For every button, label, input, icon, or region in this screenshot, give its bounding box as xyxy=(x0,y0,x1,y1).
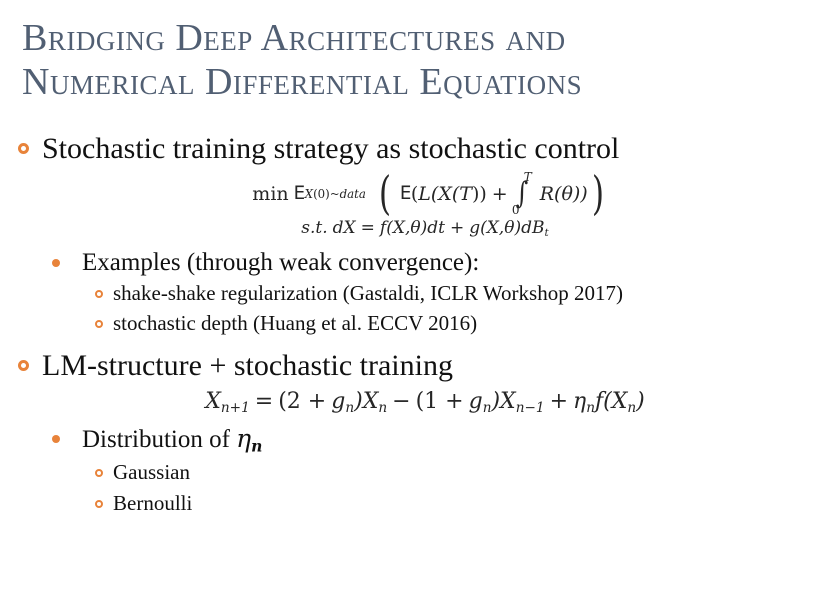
bullet-marker-hollow-circle-small-icon xyxy=(95,459,113,486)
eq1-subscript-sim: ~ xyxy=(330,187,340,201)
eta-subscript: n xyxy=(251,437,262,456)
bullet-label: shake-shake regularization (Gastaldi, IC… xyxy=(113,280,623,307)
eq1-plus: + xyxy=(492,183,508,205)
slide-canvas: Bridging Deep Architectures and Numerica… xyxy=(0,0,830,599)
eq2-plus: + xyxy=(450,218,464,238)
bullet-label: stochastic depth (Huang et al. ECCV 2016… xyxy=(113,310,477,337)
bullet-bernoulli: Bernoulli xyxy=(0,490,830,517)
bullet-marker-hollow-circle-small-icon xyxy=(95,280,113,307)
equation-lm-structure-recurrence: Xn+1=(2 +gn)Xn−(1 +gn)Xn−1+ηnf(Xn) xyxy=(20,389,830,414)
eq3-plus: + xyxy=(550,389,568,414)
eq2-diffusion-term: g(X,θ)dB xyxy=(469,218,544,238)
eq1-subscript-X: X xyxy=(305,187,313,201)
integral-icon: ∫ xyxy=(515,179,528,209)
bullet-label: Examples (through weak convergence): xyxy=(82,248,479,278)
bullet-examples: Examples (through weak convergence): xyxy=(0,248,830,278)
bullet-label: Gaussian xyxy=(113,459,190,486)
eq2-brownian-subscript: t xyxy=(544,227,548,239)
bullet-marker-filled-dot-icon xyxy=(52,424,82,454)
eq3-X-next: X xyxy=(205,389,221,414)
bullet-marker-hollow-circle-small-icon xyxy=(95,490,113,517)
eq1-regularizer-R: R xyxy=(540,183,554,205)
bullet-lm-structure: LM-structure + stochastic training xyxy=(0,349,830,382)
eq1-subscript-paren-zero: (0) xyxy=(313,187,330,201)
eq3-f-open: f(X xyxy=(595,389,627,414)
eq2-drift-term: f(X,θ)dt xyxy=(380,218,445,238)
eq1-left-paren: ( xyxy=(379,173,391,214)
bullet-marker-hollow-circle-icon xyxy=(18,132,42,164)
eq1-subscript-data: data xyxy=(340,187,366,201)
bullet-label: Distribution of ηn xyxy=(82,424,262,455)
bullet-marker-hollow-circle-icon xyxy=(18,349,42,381)
eq1-T-arg: (T xyxy=(452,183,472,205)
eq3-X-subscript-n: n xyxy=(378,400,387,416)
slide-title: Bridging Deep Architectures and Numerica… xyxy=(22,16,812,104)
bullet-stochastic-depth: stochastic depth (Huang et al. ECCV 2016… xyxy=(0,310,830,337)
eq2-subject-to: s.t. xyxy=(301,218,327,238)
eq3-equals: = xyxy=(255,389,273,414)
eq3-X-subscript-n-minus-1: n−1 xyxy=(516,400,545,416)
eq1-min: min xyxy=(252,183,288,205)
eq1-expectation-symbol: E xyxy=(294,183,305,204)
eta-symbol: η xyxy=(236,424,251,453)
bullet-label: Bernoulli xyxy=(113,490,192,517)
eq1-right-paren: ) xyxy=(592,173,604,214)
bullet-label: Stochastic training strategy as stochast… xyxy=(42,132,619,165)
eq3-f-close: ) xyxy=(636,389,645,414)
eq3-eta: η xyxy=(573,389,586,414)
bullet-stochastic-training-strategy: Stochastic training strategy as stochast… xyxy=(0,132,830,165)
bullet-gaussian: Gaussian xyxy=(0,459,830,486)
bullet-label-text: Distribution of xyxy=(82,426,236,453)
eq3-g-second: g xyxy=(469,389,483,414)
eq3-f-subscript: n xyxy=(627,400,636,416)
equation-stochastic-control-objective: min EX(0)~data ( E(L(X(T)) + T ∫ 0 R(θ))… xyxy=(30,171,830,216)
eq3-term-1-plus: (1 + xyxy=(416,389,464,414)
eq2-dX: dX xyxy=(333,218,356,238)
bullet-marker-hollow-circle-small-icon xyxy=(95,310,113,337)
bullet-shake-shake-regularization: shake-shake regularization (Gastaldi, IC… xyxy=(0,280,830,307)
eq1-expectation-symbol-inner: E xyxy=(400,183,411,204)
eq3-close-X: )X xyxy=(354,389,378,414)
eq1-loss-L: L xyxy=(418,183,431,205)
eq1-X-open: (X xyxy=(431,183,452,205)
bullet-label: LM-structure + stochastic training xyxy=(42,349,453,382)
title-line-1: Bridging Deep Architectures and xyxy=(22,16,812,60)
eq3-term-2-plus: (2 + xyxy=(278,389,326,414)
eq1-theta-arg: (θ)) xyxy=(554,183,588,205)
equation-sde-constraint: s.t.dX=f(X,θ)dt+g(X,θ)dBt xyxy=(20,218,830,238)
eq3-g-first: g xyxy=(331,389,345,414)
eq3-minus: − xyxy=(392,389,410,414)
slide-body: Stochastic training strategy as stochast… xyxy=(0,132,830,517)
title-line-2: Numerical Differential Equations xyxy=(22,60,812,104)
eq3-close-X-prev: )X xyxy=(491,389,515,414)
eq3-eta-subscript: n xyxy=(586,400,595,416)
bullet-marker-filled-dot-icon xyxy=(52,248,82,278)
eq1-close-parens: )) xyxy=(472,183,487,205)
eq3-subscript-n-plus-1: n+1 xyxy=(221,400,250,416)
bullet-distribution-of-eta: Distribution of ηn xyxy=(0,424,830,455)
eq3-g-first-subscript: n xyxy=(345,400,354,416)
eq2-equals: = xyxy=(361,218,375,238)
eq1-integral: T ∫ 0 xyxy=(512,171,532,216)
